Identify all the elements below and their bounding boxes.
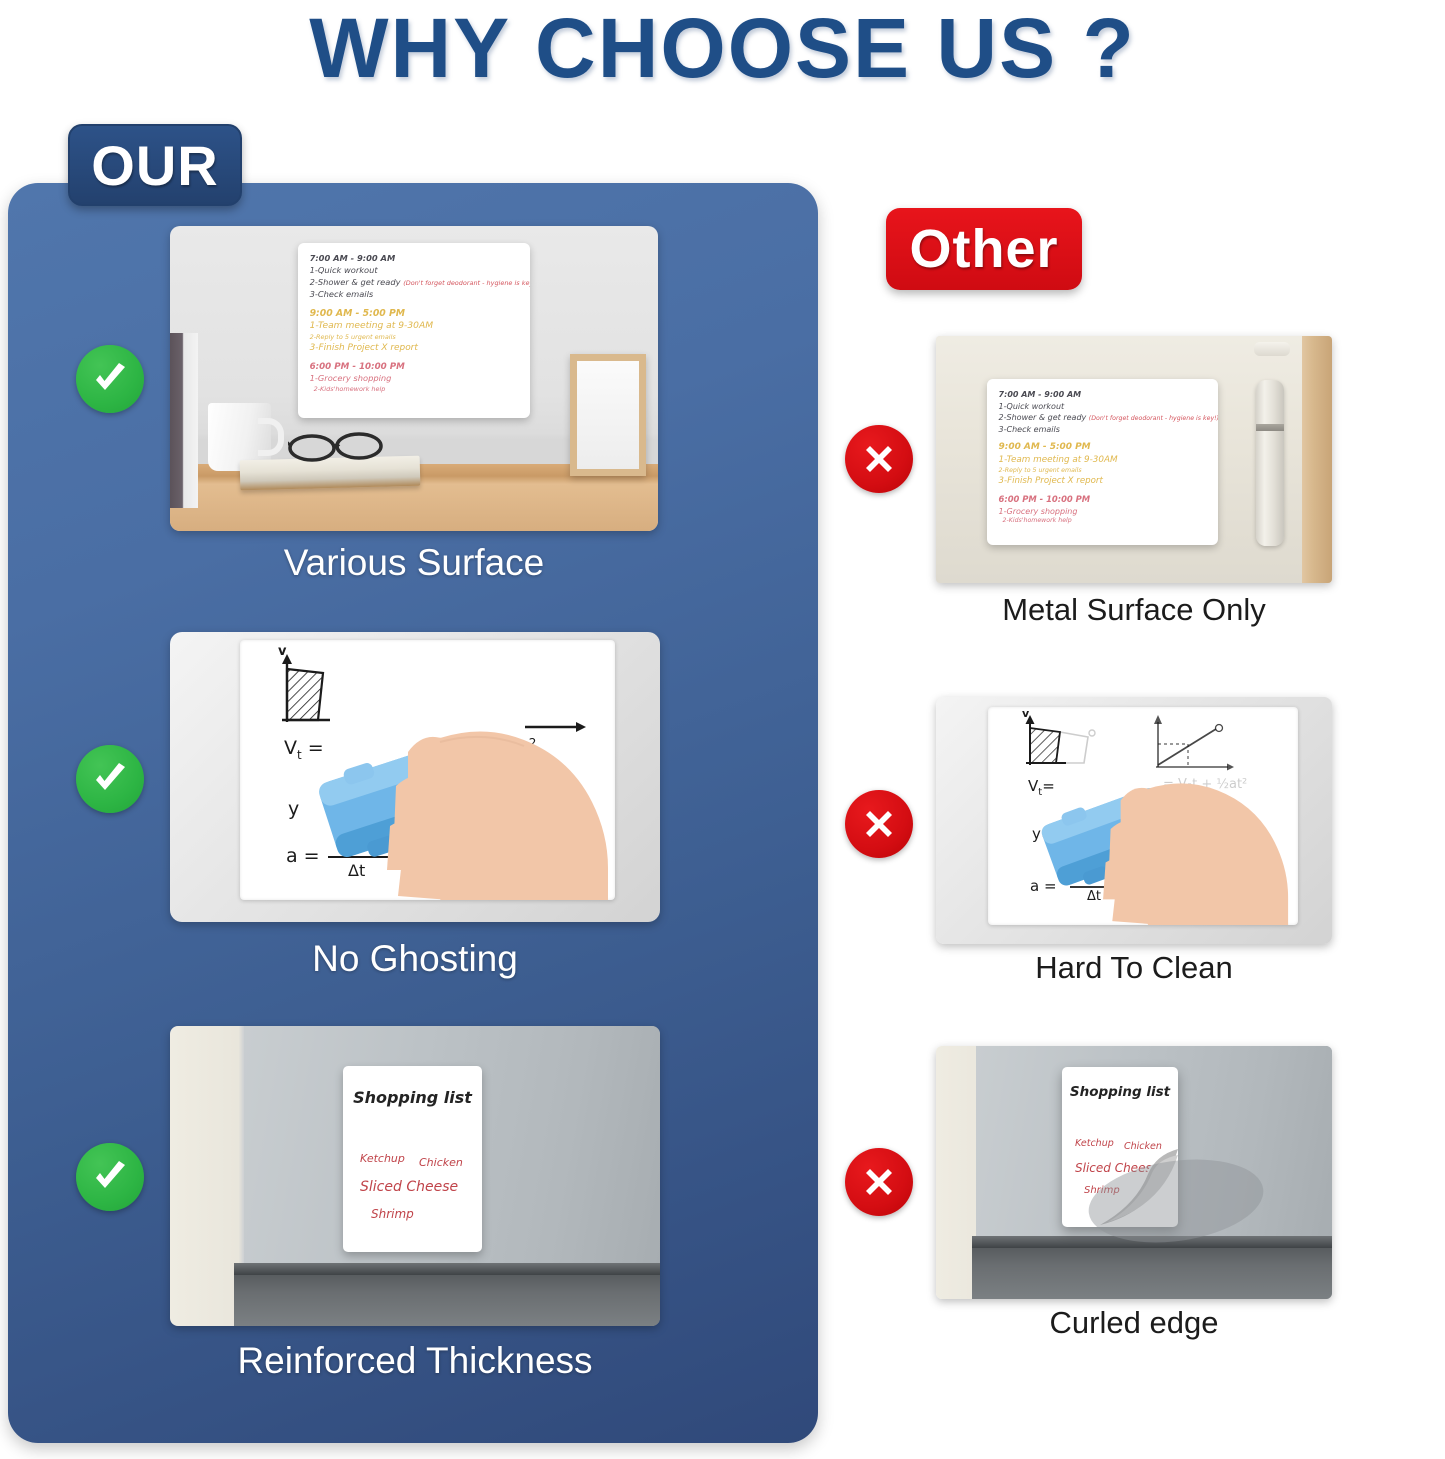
caption-various-surface: Various Surface [170, 542, 658, 584]
schedule-item: 1-Grocery shopping [310, 373, 521, 385]
picture-frame-icon [570, 354, 646, 476]
schedule-item: 1-Grocery shopping [999, 506, 1209, 517]
whiteboard-sheet-schedule: 7:00 AM - 9:00 AM 1-Quick workout 2-Show… [987, 379, 1218, 545]
caption-metal-surface-only: Metal Surface Only [936, 592, 1332, 628]
cross-icon [845, 425, 913, 493]
other-badge: Other [886, 208, 1082, 290]
schedule-item: 2-Kids'homework help [310, 385, 521, 394]
shopping-list-item: Sliced Cheese [360, 1179, 458, 1195]
shopping-list-title: Shopping list [343, 1088, 482, 1107]
page-title: WHY CHOOSE US ? [0, 0, 1445, 96]
photo-curled-edge: Shopping list Ketchup Chicken Sliced Che… [936, 1046, 1332, 1299]
check-icon [76, 745, 144, 813]
schedule-item: 1-Team meeting at 9-30AM [310, 320, 521, 333]
check-icon [76, 345, 144, 413]
photo-metal-surface-only: 7:00 AM - 9:00 AM 1-Quick workout 2-Show… [936, 336, 1332, 583]
schedule-item: 3-Finish Project X report [310, 342, 521, 355]
shopping-list-item: Shrimp [371, 1207, 414, 1221]
caption-reinforced-thickness: Reinforced Thickness [170, 1340, 660, 1382]
schedule-item: 2-Kids'homework help [999, 517, 1209, 526]
schedule-item: 2-Shower & get ready [310, 277, 401, 287]
schedule-note: (Don't forget deodorant - hygiene is key… [403, 279, 530, 287]
check-icon [76, 1143, 144, 1211]
whiteboard-sheet-schedule: 7:00 AM - 9:00 AM 1-Quick workout 2-Show… [298, 243, 530, 418]
shopping-list-sheet: Shopping list Ketchup Chicken Sliced Che… [343, 1066, 482, 1252]
schedule-item: 3-Check emails [999, 424, 1209, 435]
fridge-handle [1256, 380, 1284, 546]
schedule-block2-time: 9:00 AM - 5:00 PM [999, 441, 1209, 454]
schedule-block1-time: 7:00 AM - 9:00 AM [310, 253, 521, 265]
schedule-block2-time: 9:00 AM - 5:00 PM [310, 307, 521, 320]
schedule-block1-time: 7:00 AM - 9:00 AM [999, 389, 1209, 400]
schedule-item: 1-Quick workout [310, 265, 521, 277]
schedule-block3-time: 6:00 PM - 10:00 PM [999, 494, 1209, 506]
schedule-item: 1-Quick workout [999, 401, 1209, 412]
book-standing-icon [170, 333, 198, 508]
cross-icon [845, 790, 913, 858]
photo-various-surface: 7:00 AM - 9:00 AM 1-Quick workout 2-Show… [170, 226, 658, 531]
whiteboard-surface: v Vt = 1 2 at2 ΔEx t y a = ΔV Δt [240, 640, 615, 900]
schedule-item: 3-Check emails [310, 289, 521, 301]
photo-hard-to-clean: v Vt= = V₀t + ½at² x y= t a = ΔV Δt [936, 697, 1332, 944]
schedule-item: 3-Finish Project X report [999, 475, 1209, 487]
whiteboard-surface: v Vt= = V₀t + ½at² x y= t a = ΔV Δt [988, 707, 1298, 925]
fridge-drawer [234, 1275, 660, 1326]
shopping-list-item: Chicken [419, 1156, 463, 1169]
handle-top-cap [1254, 342, 1290, 356]
photo-reinforced-thickness: Shopping list Ketchup Chicken Sliced Che… [170, 1026, 660, 1326]
shopping-list-item: Ketchup [360, 1152, 405, 1165]
schedule-block3-time: 6:00 PM - 10:00 PM [310, 361, 521, 373]
photo-no-ghosting: v Vt = 1 2 at2 ΔEx t y a = ΔV Δt [170, 632, 660, 922]
schedule-item: 2-Shower & get ready [999, 413, 1087, 422]
vt-subscript: t [297, 748, 302, 762]
schedule-item: 2-Reply to 5 urgent emails [999, 467, 1209, 476]
schedule-item: 2-Reply to 5 urgent emails [310, 333, 521, 342]
caption-no-ghosting: No Ghosting [170, 938, 660, 980]
axis-label-v: v [278, 644, 286, 659]
fridge-door-gap [234, 1263, 660, 1275]
axis-label-v: v [1022, 707, 1029, 720]
glasses-icon [288, 431, 384, 470]
schedule-item: 1-Team meeting at 9-30AM [999, 454, 1209, 466]
y-label: y [288, 798, 299, 820]
hand-icon [380, 700, 610, 900]
cross-icon [845, 1148, 913, 1216]
our-badge: OUR [68, 124, 242, 206]
hand-icon [1096, 757, 1291, 925]
curl-shadow [1086, 1141, 1266, 1261]
caption-curled-edge: Curled edge [936, 1305, 1332, 1341]
vt-label: V [284, 737, 297, 759]
caption-hard-to-clean: Hard To Clean [936, 950, 1332, 986]
schedule-note: (Don't forget deodorant - hygiene is key… [1089, 415, 1218, 422]
